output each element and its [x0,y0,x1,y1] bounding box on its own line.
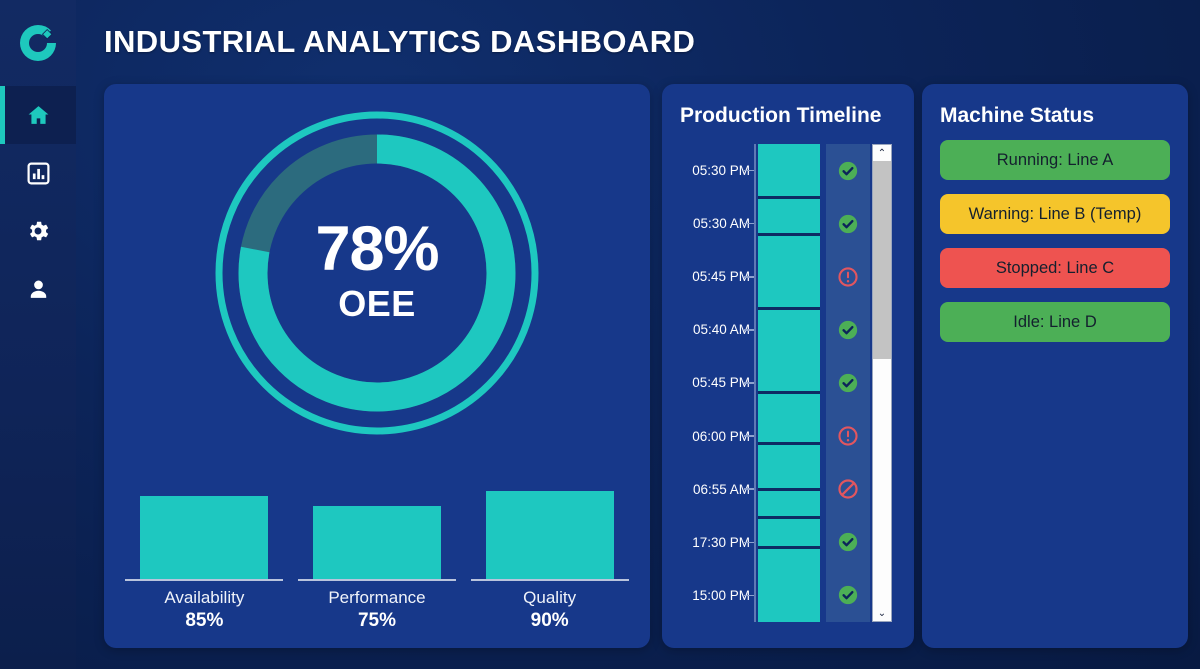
timeline-scrollbar[interactable]: ⌃ ⌄ [872,144,892,622]
timeline-time-label: 15:00 PM [692,588,750,603]
timeline-tick [744,329,754,331]
machine-status-pill[interactable]: Stopped: Line C [940,248,1170,288]
timeline-tick [744,595,754,597]
kpi-bar-plot [125,481,283,581]
check-circle-icon [837,372,859,394]
timeline-time-label: 17:30 PM [692,535,750,550]
check-circle-icon [837,584,859,606]
timeline-time-label: 05:30 PM [692,163,750,178]
sidebar-item-settings[interactable] [0,202,76,260]
timeline-body: 05:30 PM05:30 AM05:45 PM05:40 AM05:45 PM… [662,136,914,636]
machine-status-list: Running: Line AWarning: Line B (Temp)Sto… [940,140,1170,342]
timeline-segment[interactable] [758,491,820,519]
check-circle-icon [837,531,859,553]
kpi-bar-plot [298,481,456,581]
machine-status-title: Machine Status [940,104,1094,128]
timeline-segments [758,144,820,622]
kpi-bar-item: Quality90% [471,481,629,632]
sidebar-item-home[interactable] [0,86,76,144]
kpi-bar-rect [140,496,268,579]
machine-status-panel: Machine Status Running: Line AWarning: L… [922,84,1188,648]
oee-panel: 78% OEE Availability85%Performance75%Qua… [104,84,650,648]
kpi-bar-rect [313,506,441,580]
kpi-bar-label: Quality [523,588,576,608]
kpi-bar-item: Availability85% [125,481,283,632]
timeline-time-label: 06:55 AM [693,482,750,497]
chart-box-icon [26,161,51,186]
timeline-time-labels: 05:30 PM05:30 AM05:45 PM05:40 AM05:45 PM… [672,144,750,622]
kpi-bar-label: Performance [328,588,425,608]
app-logo [0,0,76,86]
timeline-axis-line [754,144,756,622]
home-icon [26,103,51,128]
timeline-tick [744,488,754,490]
timeline-segment[interactable] [758,236,820,309]
timeline-title: Production Timeline [680,104,881,128]
sidebar [0,0,76,669]
machine-status-pill[interactable]: Warning: Line B (Temp) [940,194,1170,234]
person-icon [26,277,51,302]
timeline-tick [744,170,754,172]
timeline-tick-marks [744,144,754,622]
scroll-up-arrow-icon[interactable]: ⌃ [873,145,891,161]
timeline-time-label: 05:40 AM [693,322,750,337]
sidebar-item-profile[interactable] [0,260,76,318]
gear-icon [25,218,51,244]
alert-circle-icon [837,425,859,447]
kpi-bar-plot [471,481,629,581]
timeline-status-column [826,144,870,622]
machine-status-pill[interactable]: Idle: Line D [940,302,1170,342]
production-timeline-panel: Production Timeline 05:30 PM05:30 AM05:4… [662,84,914,648]
scroll-down-arrow-icon[interactable]: ⌄ [873,605,891,621]
kpi-bar-label: Availability [164,588,244,608]
machine-status-pill[interactable]: Running: Line A [940,140,1170,180]
kpi-bar-chart: Availability85%Performance75%Quality90% [118,462,636,632]
dashboard-root: INDUSTRIAL ANALYTICS DASHBOARD 78% OEE A… [0,0,1200,669]
timeline-segment[interactable] [758,549,820,622]
check-circle-icon [837,213,859,235]
oee-donut-chart [212,108,542,438]
timeline-time-label: 06:00 PM [692,429,750,444]
kpi-bar-value: 85% [185,610,223,632]
kpi-bar-value: 90% [531,610,569,632]
timeline-segment[interactable] [758,199,820,236]
timeline-segment[interactable] [758,394,820,445]
kpi-bar-value: 75% [358,610,396,632]
timeline-time-label: 05:45 PM [692,269,750,284]
timeline-segment[interactable] [758,310,820,395]
timeline-tick [744,435,754,437]
kpi-bar-item: Performance75% [298,481,456,632]
timeline-segment[interactable] [758,144,820,199]
scrollbar-thumb[interactable] [873,161,891,359]
timeline-segment[interactable] [758,445,820,491]
timeline-time-label: 05:45 PM [692,375,750,390]
page-title: INDUSTRIAL ANALYTICS DASHBOARD [104,24,695,60]
kpi-bar-rect [486,491,614,579]
circular-brand-logo-icon [16,21,60,65]
oee-gauge: 78% OEE [212,108,542,438]
timeline-segment[interactable] [758,519,820,549]
timeline-tick [744,276,754,278]
timeline-tick [744,542,754,544]
timeline-tick [744,223,754,225]
check-circle-icon [837,160,859,182]
sidebar-item-analytics[interactable] [0,144,76,202]
no-entry-icon [837,478,859,500]
timeline-time-label: 05:30 AM [693,216,750,231]
check-circle-icon [837,319,859,341]
alert-circle-icon [837,266,859,288]
timeline-tick [744,382,754,384]
